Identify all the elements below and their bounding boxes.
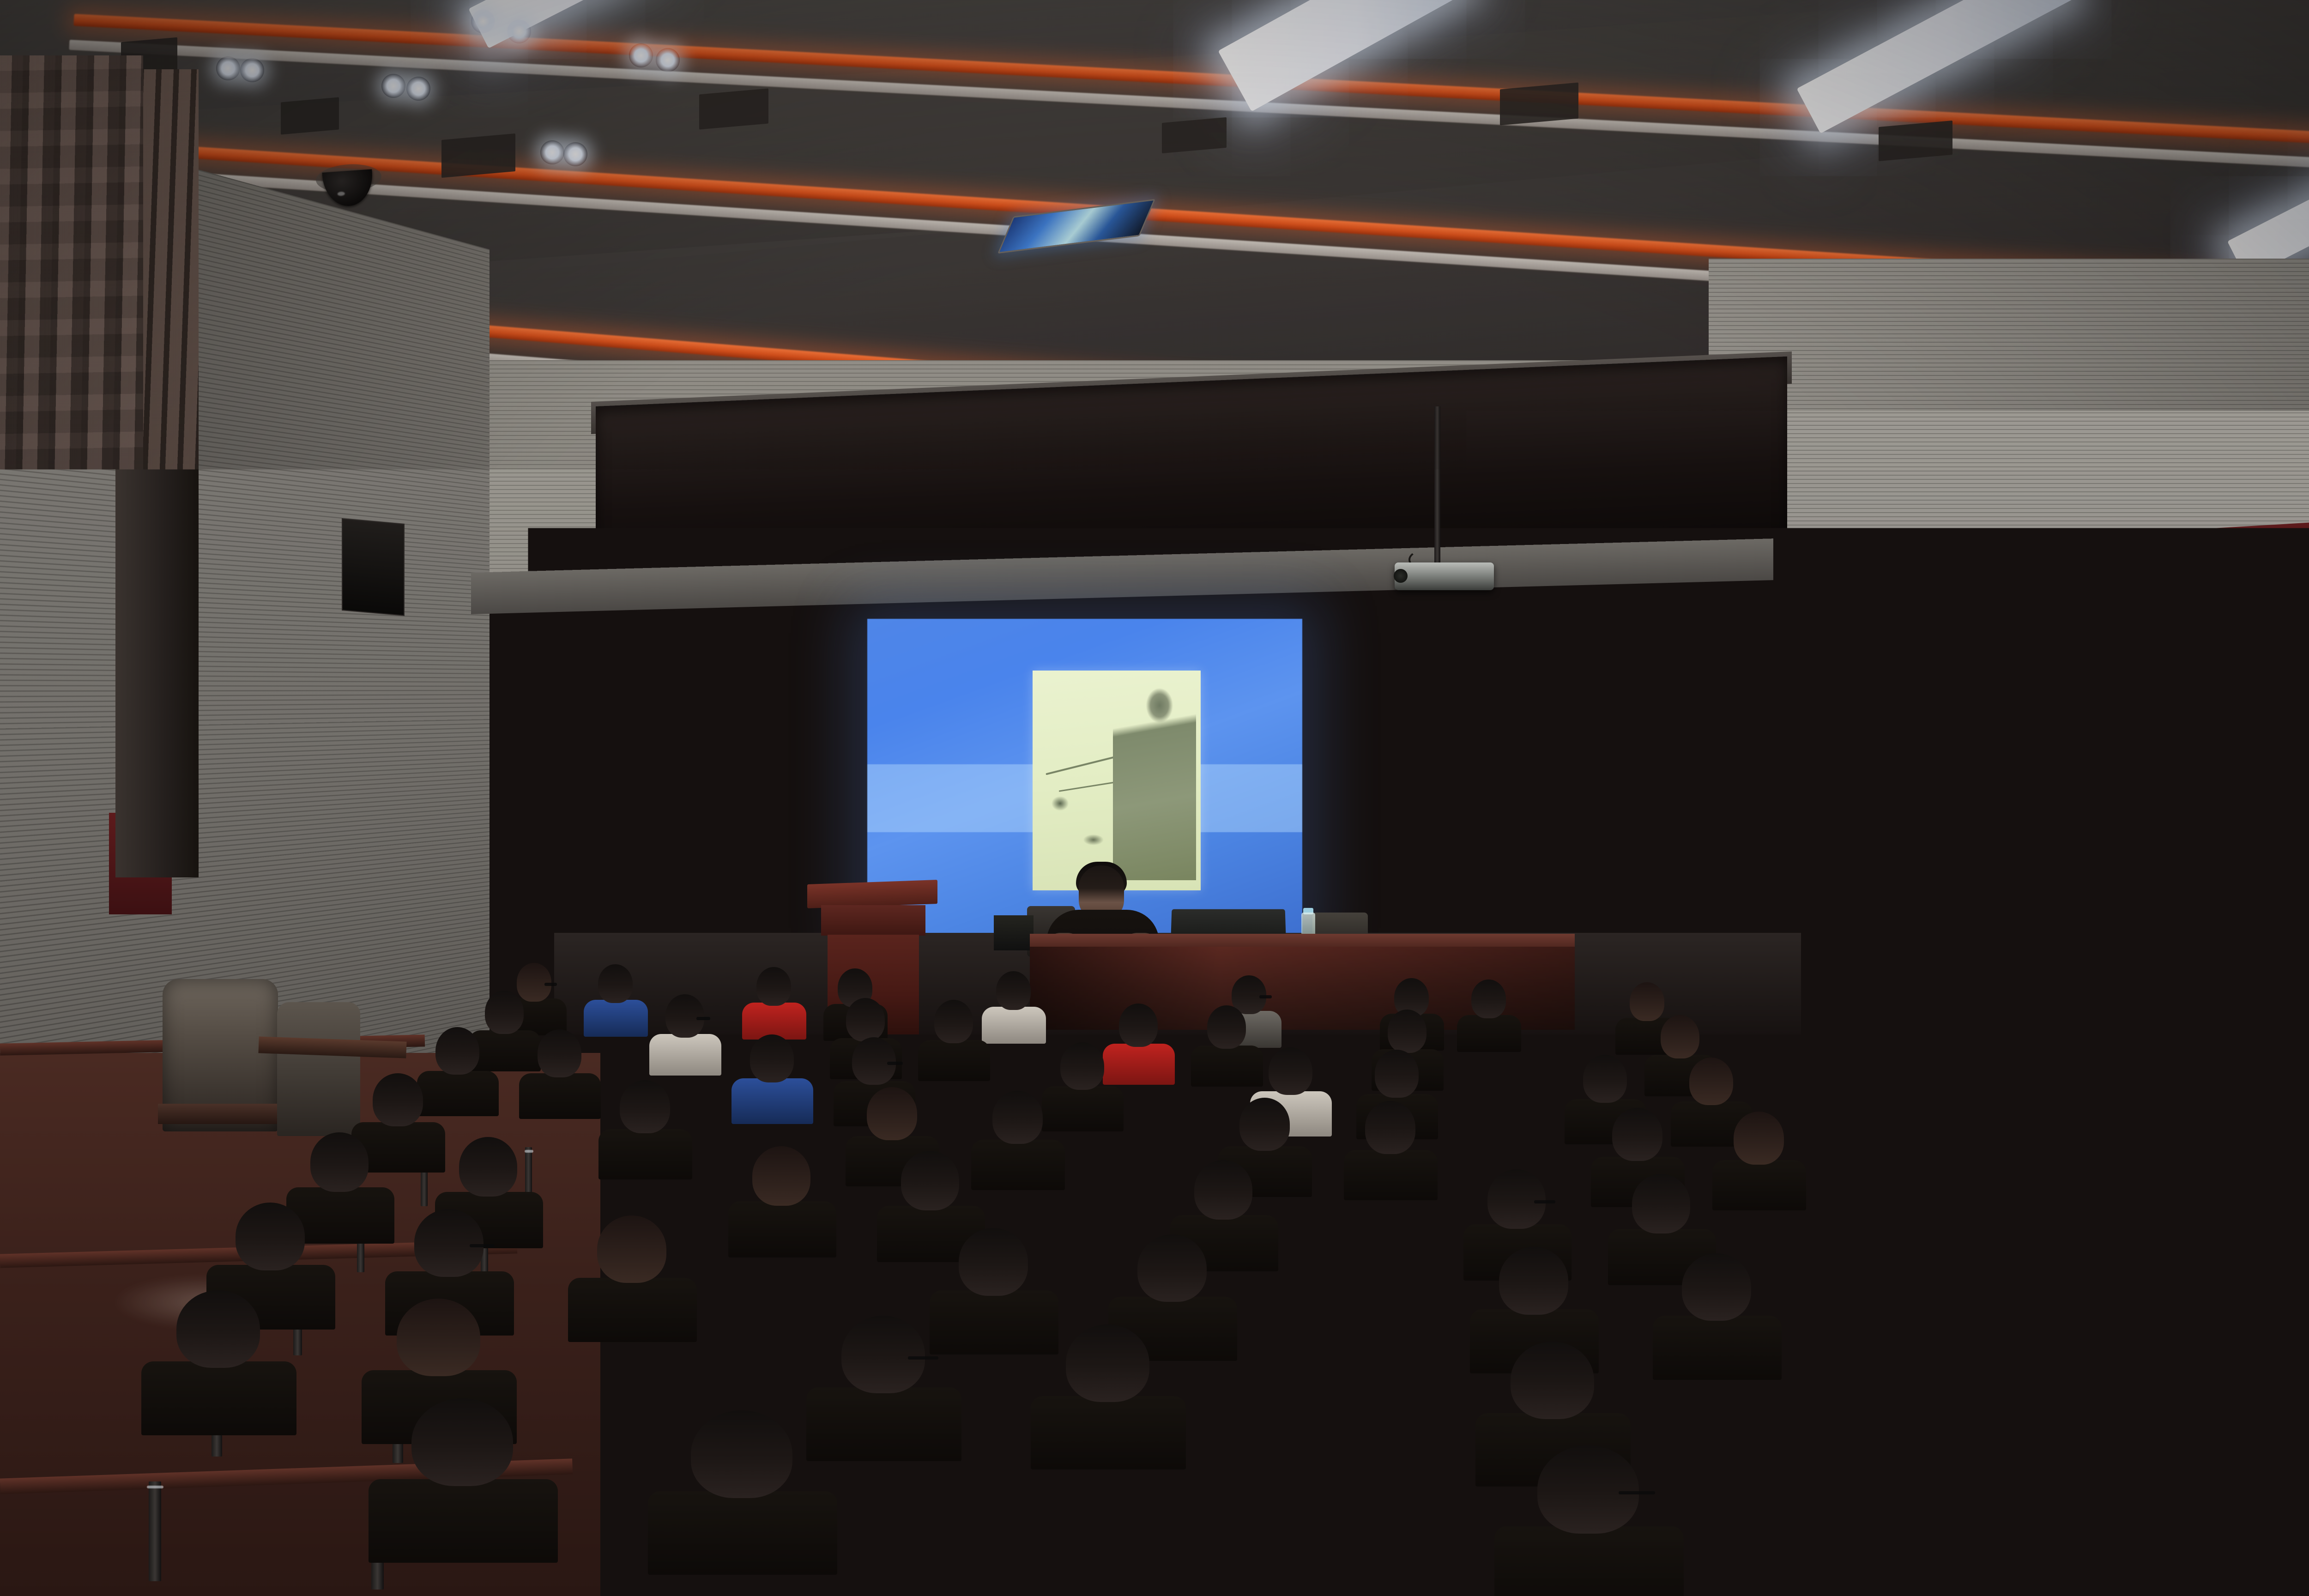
ceiling-downlight-1: [471, 9, 495, 33]
wall-speaker-right: [2095, 570, 2139, 661]
auditorium-seat[interactable]: [647, 1482, 850, 1596]
side-curtain: [0, 55, 143, 1469]
ceiling-downlight-9: [540, 140, 564, 164]
water-bottle-row-front[interactable]: [457, 986, 473, 1029]
ceiling-vent-center-left: [441, 133, 515, 178]
ceiling-mounted-projector: [1395, 562, 1494, 590]
auditorium-seat[interactable]: [1773, 1529, 1977, 1596]
ceiling-downlight-10: [563, 142, 587, 166]
ceiling-downlight-2: [507, 19, 531, 43]
side-curtain-inner: [139, 69, 199, 1325]
wall-speaker-left: [342, 518, 405, 616]
slide-figure: [1113, 682, 1196, 880]
auditorium-seat[interactable]: [1492, 1517, 1695, 1596]
ceiling-downlight-3: [629, 43, 653, 67]
armchair-left-rear[interactable]: [277, 1002, 360, 1136]
ceiling-vent-low-right: [1162, 117, 1227, 153]
ceiling-vent-right: [1500, 83, 1578, 126]
auditorium-scene: [0, 0, 2309, 1596]
auditorium-seat[interactable]: [1651, 1309, 1790, 1430]
auditorium-seat[interactable]: [1210, 1506, 1413, 1596]
ceiling-vent-far-right: [1879, 121, 1952, 161]
ceiling-vent-center: [699, 88, 768, 129]
ceiling-downlight-4: [656, 48, 680, 72]
audience-glasses: [1259, 995, 1272, 998]
curtain-fringe: [9, 1395, 97, 1459]
lectern-neck: [821, 905, 925, 936]
ceiling-downlight-5: [216, 56, 240, 80]
projector-lens: [1394, 569, 1408, 583]
laptop-secondary[interactable]: [994, 915, 1034, 950]
projector-mount-pole: [1434, 406, 1440, 568]
ceiling-downlight-7: [381, 74, 405, 98]
wall-speaker-back-right: [1822, 606, 1876, 701]
ceiling-vent-low: [281, 97, 339, 134]
audience-glasses: [544, 983, 557, 986]
auditorium-seat[interactable]: [928, 1494, 1131, 1596]
framed-picture-glint: [1844, 850, 1852, 856]
auditorium-seat[interactable]: [365, 1470, 568, 1596]
ceiling-downlight-8: [406, 77, 430, 101]
lectern-top: [807, 880, 937, 908]
auditorium-seat[interactable]: [83, 1459, 286, 1596]
ceiling-downlight-6: [240, 58, 264, 82]
